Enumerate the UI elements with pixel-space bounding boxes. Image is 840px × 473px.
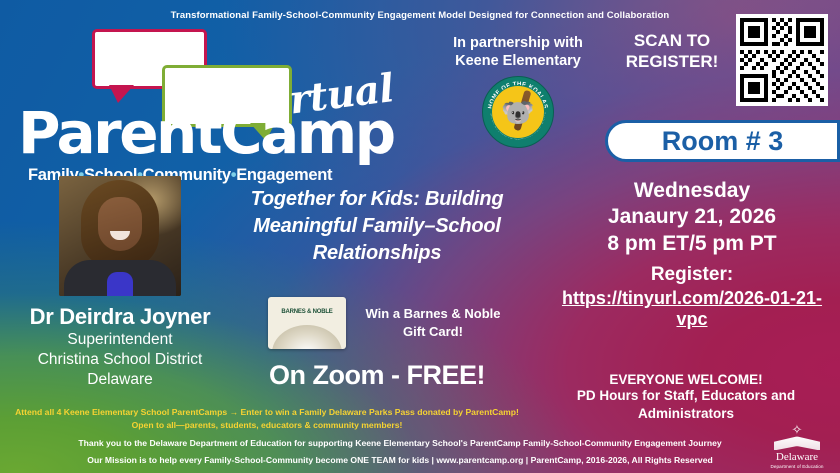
giftcard-brand-label: BARNES & NOBLE bbox=[268, 309, 346, 315]
avatar-shirt bbox=[107, 272, 133, 296]
doe-name: Delaware bbox=[760, 452, 834, 464]
promo-text: Attend all 4 Keene Elementary School Par… bbox=[12, 406, 522, 432]
top-tagline: Transformational Family-School-Community… bbox=[0, 10, 840, 21]
scan-to-register-text: SCAN TO REGISTER! bbox=[612, 30, 732, 73]
scan-line-2: REGISTER! bbox=[612, 51, 732, 72]
welcome-pd-hours: PD Hours for Staff, Educators and Admini… bbox=[536, 387, 836, 423]
logo-parentcamp-word: ParentCamp bbox=[18, 104, 394, 162]
footer-mission: Our Mission is to help every Family-Scho… bbox=[0, 455, 800, 465]
speaker-block: Dr Deirdra Joyner Superintendent Christi… bbox=[6, 176, 234, 390]
speaker-state: Delaware bbox=[6, 370, 234, 390]
speaker-title: Superintendent bbox=[6, 330, 234, 350]
prize-line-1: Win a Barnes & Noble bbox=[358, 305, 508, 323]
flyer-canvas: Transformational Family-School-Community… bbox=[0, 0, 840, 473]
speaker-name: Dr Deirdra Joyner bbox=[6, 304, 234, 330]
session-title: Together for Kids: Building Meaningful F… bbox=[212, 186, 542, 267]
schedule-time: 8 pm ET/5 pm PT bbox=[548, 231, 836, 257]
doe-department: Department of Education bbox=[760, 464, 834, 469]
doe-book-icon bbox=[774, 435, 820, 450]
doe-emblem-icon: ✧ bbox=[760, 424, 834, 452]
partnership-line2: Keene Elementary bbox=[418, 52, 618, 70]
prize-line-2: Gift Card! bbox=[358, 323, 508, 341]
speaker-district: Christina School District bbox=[6, 350, 234, 370]
register-url-link[interactable]: https://tinyurl.com/2026-01-21-vpc bbox=[548, 288, 836, 330]
keene-elementary-seal-icon: HOME OF THE KOALAS WILLIAM B. KEENE ELEM… bbox=[482, 76, 554, 148]
welcome-block: EVERYONE WELCOME! PD Hours for Staff, Ed… bbox=[536, 372, 836, 423]
prize-block: BARNES & NOBLE Win a Barnes & Noble Gift… bbox=[268, 297, 508, 349]
partnership-line1: In partnership with bbox=[418, 34, 618, 52]
parentcamp-logo: Virtual ParentCamp Family•School•Communi… bbox=[14, 26, 414, 166]
room-badge: Room # 3 bbox=[605, 120, 840, 162]
koala-icon: 🐨 bbox=[501, 100, 535, 127]
footer-thank-you: Thank you to the Delaware Department of … bbox=[0, 438, 800, 448]
seal-inner-disc: 🐨 bbox=[491, 85, 545, 139]
qr-code[interactable] bbox=[736, 14, 828, 106]
prize-text: Win a Barnes & Noble Gift Card! bbox=[358, 305, 508, 341]
partnership-block: In partnership with Keene Elementary HOM… bbox=[418, 34, 618, 148]
schedule-date: Janaury 21, 2026 bbox=[548, 204, 836, 230]
schedule-day: Wednesday bbox=[548, 178, 836, 204]
promo-line-1: Attend all 4 Keene Elementary School Par… bbox=[15, 407, 463, 417]
schedule-block: Wednesday Janaury 21, 2026 8 pm ET/5 pm … bbox=[548, 178, 836, 330]
zoom-free-text: On Zoom - FREE! bbox=[232, 360, 522, 391]
scan-line-1: SCAN TO bbox=[612, 30, 732, 51]
barnes-noble-giftcard-image: BARNES & NOBLE bbox=[268, 297, 346, 349]
register-label: Register: bbox=[548, 264, 836, 286]
open-book-icon bbox=[272, 325, 342, 349]
room-label: Room # 3 bbox=[662, 126, 784, 157]
delaware-doe-logo: ✧ Delaware Department of Education bbox=[760, 424, 834, 469]
logo-sub-engagement: Engagement bbox=[236, 166, 332, 184]
speaker-avatar bbox=[59, 176, 181, 296]
welcome-headline: EVERYONE WELCOME! bbox=[536, 372, 836, 387]
avatar-face bbox=[98, 197, 142, 251]
doe-star-icon: ✧ bbox=[792, 423, 803, 436]
